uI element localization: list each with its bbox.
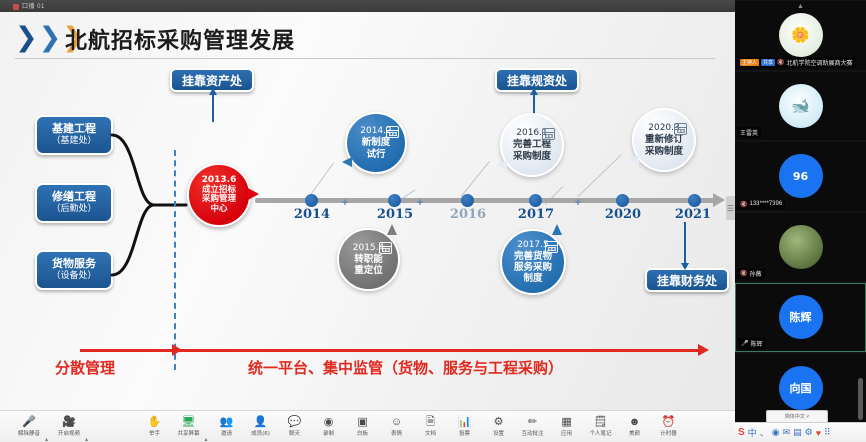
participant-name: 133****7396: [749, 201, 782, 207]
avatar-initials: 向国: [790, 380, 812, 396]
milestone-line2: 重定位: [354, 265, 383, 276]
toolbar-members-button[interactable]: 👤 成员(6): [246, 411, 276, 442]
share-badge: 共享: [761, 59, 775, 66]
milestone-line1: 转职能: [354, 254, 383, 265]
milestone-line1: 新制度: [362, 137, 391, 148]
share-screen-icon: 🖥: [182, 416, 196, 428]
share-control-pair[interactable]: 🖥 共享屏幕 ▴: [174, 411, 208, 442]
leader-line-2016: [461, 161, 490, 197]
toolbar-label: 美颜: [629, 429, 640, 437]
dept-line1: 基建工程: [37, 123, 111, 136]
milestone-bubble-2017: 2017.5 完善货物 服务采购 制度: [500, 229, 566, 295]
avatar-initials: 96: [793, 170, 808, 183]
ime-settings-icon[interactable]: ⚙: [805, 427, 813, 438]
timeline-arrowhead: [713, 193, 725, 207]
mic-control-pair[interactable]: 🎤 解除静音 ▴: [14, 411, 48, 442]
video-tile[interactable]: 🐋 王雷英: [735, 72, 866, 141]
management-era-arrow-mid: [172, 344, 182, 356]
calendar-icon: [386, 126, 399, 138]
dept-line2: （设备处）: [37, 271, 111, 282]
toolbar-label: 共享屏幕: [177, 429, 199, 437]
milestone-line1: 完善工程: [513, 139, 551, 150]
timeline-separator-2: +: [417, 197, 423, 209]
toolbar-beauty-button[interactable]: ☻ 美颜: [620, 411, 650, 442]
toolbar-label: 表情: [391, 429, 402, 437]
timeline-node-2014: [305, 194, 318, 207]
center-milestone-node: 2013.6 成立招标 采购管理 中心: [187, 163, 251, 227]
chevron-up-icon[interactable]: ▲: [797, 3, 804, 10]
toolbar-label: 邀请: [221, 429, 232, 437]
annotation-pen-icon: ✏: [528, 416, 537, 428]
participant-name: 陈辉: [750, 339, 762, 348]
toolbar-annotation-button[interactable]: ✏ 互动批注: [518, 411, 548, 442]
bubble-tail-2020: [629, 155, 639, 165]
emoji-icon: ☺: [391, 416, 402, 428]
dept-box-goods: 货物服务 （设备处）: [35, 250, 113, 290]
toolbar-label: 个人笔记: [590, 429, 612, 437]
timeline-year-2020: 2020: [605, 207, 641, 222]
ime-mail-icon[interactable]: ✉: [783, 427, 791, 438]
toolbar-center-group: ✋ 举手 🖥 共享屏幕 ▴ 👥 邀请 👤 成员(6) 💬 聊天: [140, 411, 684, 442]
milestone-bubble-2020: 2020.3 重新修订 采购制度: [632, 108, 696, 172]
timeline-node-2021: [688, 194, 701, 207]
toolbar-label: 录制: [323, 429, 334, 437]
toolbar-label: 计时器: [660, 429, 677, 437]
center-line3: 中心: [210, 205, 227, 215]
toolbar-emoji-button[interactable]: ☺ 表情: [382, 411, 412, 442]
brace-connector: [110, 110, 192, 300]
mic-muted-icon: 🔇: [740, 201, 747, 208]
video-tile[interactable]: 🔇 孙薇: [735, 213, 866, 282]
calendar-icon: [545, 241, 558, 253]
timeline-year-2014: 2014: [294, 207, 330, 222]
members-icon: 👤: [254, 416, 268, 428]
bubble-tail-2015: [387, 224, 397, 235]
chevron-up-icon[interactable]: ▴: [85, 436, 88, 442]
participant-name-chip: 主持人 共享 🔇 北航学院空调助展商大赛: [737, 57, 856, 68]
window-tab-label: 口播 01: [22, 1, 45, 10]
timeline-node-2015: [388, 194, 401, 207]
mic-icon: 🎤: [741, 340, 748, 347]
app-root: 口播 01 ❯ ❯ ❯ 北航招标采购管理发展 基建工程 （基建处） 修缮工程 （…: [0, 0, 866, 442]
raise-hand-icon: ✋: [148, 416, 162, 428]
bubble-tail-2016: [497, 160, 507, 170]
milestone-line1: 重新修订: [645, 134, 683, 145]
video-tile-active-speaker[interactable]: 陈辉 🎤 陈辉: [735, 283, 866, 352]
toolbar-label: 应用: [561, 429, 572, 437]
gear-icon: ⚙: [494, 416, 504, 428]
ime-keyboard-icon[interactable]: ▤: [793, 427, 802, 438]
ime-favorite-icon[interactable]: ♥: [816, 428, 821, 438]
toolbar-settings-button[interactable]: ⚙ 设置: [484, 411, 514, 442]
sogou-logo-icon[interactable]: S: [738, 427, 745, 438]
avatar-initials: 陈辉: [790, 309, 812, 325]
toolbar-label: 白板: [357, 429, 368, 437]
participant-video-rail[interactable]: ▲ 🌼 主持人 共享 🔇 北航学院空调助展商大赛 🐋 王雷英 96: [735, 0, 866, 422]
toolbar-label: 成员(6): [251, 429, 270, 437]
timeline-separator-3: +: [575, 197, 581, 209]
milestone-bubble-2015: 2015.4 转职能 重定位: [337, 228, 400, 291]
vote-chart-icon: 📊: [458, 416, 472, 428]
toolbar-document-button[interactable]: 🗎 文档: [416, 411, 446, 442]
timeline-separator-1: +: [342, 197, 348, 209]
milestone-line2: 采购制度: [645, 146, 683, 157]
avatar: 🌼: [779, 13, 823, 57]
milestone-line2: 服务采购: [514, 262, 552, 273]
timeline-node-2020: [616, 194, 629, 207]
toolbar-notes-button[interactable]: 🗒 个人笔记: [586, 411, 616, 442]
toolbar-raise-hand-button[interactable]: ✋ 举手: [140, 411, 170, 442]
toolbar-left-group: 🎤 解除静音 ▴ 🎥 开启视频 ▴: [14, 411, 88, 442]
ime-punctuation-icon[interactable]: 、: [760, 426, 769, 439]
video-tile[interactable]: ▲ 🌼 主持人 共享 🔇 北航学院空调助展商大赛: [735, 1, 866, 70]
whiteboard-icon: ▣: [357, 416, 367, 428]
timer-icon: ⏰: [662, 416, 676, 428]
participant-name: 王雷英: [740, 128, 758, 137]
mic-muted-icon: 🔇: [740, 270, 747, 277]
era-divider-dashed: [174, 150, 176, 370]
scrollbar-thumb[interactable]: [858, 378, 863, 420]
participant-name: 孙薇: [749, 269, 761, 278]
notes-icon: 🗒: [594, 416, 608, 428]
leader-line-2020: [578, 154, 622, 196]
toolbar-label: 设置: [493, 429, 504, 437]
toolbar-share-screen-button[interactable]: 🖥 共享屏幕: [174, 411, 204, 442]
era-label-decentralized: 分散管理: [55, 357, 115, 378]
ime-menu-icon[interactable]: ⠿: [824, 427, 831, 438]
participant-name-chip: 王雷英: [737, 127, 761, 138]
toolbar-label: 互动批注: [522, 429, 544, 437]
mic-muted-icon: 🔇: [777, 59, 784, 66]
avatar: 向国: [779, 366, 823, 410]
era-label-unified: 统一平台、集中监管（货物、服务与工程采购）: [248, 357, 563, 378]
video-tile[interactable]: 96 🔇 133****7396: [735, 142, 866, 211]
toolbar-vote-button[interactable]: 📊 投票: [450, 411, 480, 442]
toolbar-whiteboard-button[interactable]: ▣ 白板: [348, 411, 378, 442]
toolbar-unmute-button[interactable]: 🎤 解除静音: [14, 411, 44, 442]
calendar-icon: [674, 123, 687, 135]
record-icon: ◉: [324, 416, 334, 428]
bubble-tail-2014: [342, 157, 352, 167]
toolbar-label: 文档: [425, 429, 436, 437]
calendar-icon: [542, 128, 555, 140]
milestone-bubble-2016: 2016.1 完善工程 采购制度: [500, 113, 564, 177]
ime-toolbar[interactable]: S 中 、 ◉ ✉ ▤ ⚙ ♥ ⠿: [735, 422, 866, 442]
chat-icon: 💬: [288, 416, 302, 428]
app-icon: [13, 4, 19, 10]
tag-finance-office: 挂靠财务处: [645, 268, 729, 292]
timeline-year-2021: 2021: [675, 207, 711, 222]
title-divider: [15, 58, 715, 59]
timeline-year-2017: 2017: [518, 207, 554, 222]
chevron-up-icon[interactable]: ▴: [205, 436, 208, 442]
chevron-up-icon[interactable]: ▴: [45, 436, 48, 442]
management-era-arrow-end: [698, 344, 709, 356]
avatar: 🐋: [779, 84, 823, 128]
toolbar-start-video-button[interactable]: 🎥 开启视频: [54, 411, 84, 442]
dept-box-infrastructure: 基建工程 （基建处）: [35, 115, 113, 155]
toolbar-chat-button[interactable]: 💬 聊天: [280, 411, 310, 442]
toolbar-label: 聊天: [289, 429, 300, 437]
milestone-bubble-2014: 2014.2 新制度 试行: [345, 112, 407, 174]
presentation-slide: 口播 01 ❯ ❯ ❯ 北航招标采购管理发展 基建工程 （基建处） 修缮工程 （…: [0, 0, 735, 410]
document-icon: 🗎: [426, 416, 435, 428]
beauty-face-icon: ☻: [629, 416, 641, 428]
avatar: [779, 225, 823, 269]
leader-line-2014: [310, 163, 334, 196]
video-off-icon: 🎥: [62, 416, 76, 428]
shared-window-titlebar: [0, 0, 735, 12]
participant-name: 北航学院空调助展商大赛: [787, 58, 853, 67]
microphone-muted-icon: 🎤: [22, 416, 36, 428]
milestone-line2: 采购制度: [513, 151, 551, 162]
dept-box-renovation: 修缮工程 （后勤处）: [35, 183, 113, 223]
avatar: 陈辉: [779, 295, 823, 339]
participant-name-chip: 🔇 133****7396: [737, 200, 785, 209]
participant-name-chip: 🎤 陈辉: [738, 338, 766, 349]
host-badge: 主持人: [740, 59, 759, 66]
ime-mode-icon[interactable]: 中: [748, 426, 757, 439]
apps-grid-icon: ▦: [561, 416, 571, 428]
toolbar-label: 解除静音: [18, 429, 40, 437]
toolbar-invite-button[interactable]: 👥 邀请: [212, 411, 242, 442]
timeline-node-2017: [529, 194, 542, 207]
invite-icon: 👥: [220, 416, 234, 428]
timeline-node-2016: [461, 194, 474, 207]
timeline-axis: [255, 198, 715, 203]
ime-voice-icon[interactable]: ◉: [772, 427, 780, 438]
participant-name-chip: 🔇 孙薇: [737, 268, 765, 279]
toolbar-record-button[interactable]: ◉ 录制: [314, 411, 344, 442]
dept-line2: （后勤处）: [37, 204, 111, 215]
toolbar-label: 投票: [459, 429, 470, 437]
dept-line1: 修缮工程: [37, 191, 111, 204]
avatar: 96: [779, 154, 823, 198]
tag-finance-arrow: [684, 222, 686, 264]
timeline-year-2015: 2015: [377, 207, 413, 222]
tag-asset-arrow: [212, 94, 214, 122]
timeline-year-2016: 2016: [450, 207, 486, 222]
milestone-line3: 制度: [523, 273, 542, 284]
video-control-pair[interactable]: 🎥 开启视频 ▴: [54, 411, 88, 442]
slide-side-handle[interactable]: ☰: [726, 196, 735, 220]
dept-line2: （基建处）: [37, 136, 111, 147]
page-title: 北航招标采购管理发展: [65, 23, 295, 55]
meeting-toolbar[interactable]: 🎤 解除静音 ▴ 🎥 开启视频 ▴ ✋ 举手 🖥 共: [0, 410, 735, 442]
toolbar-label: 开启视频: [58, 429, 80, 437]
toolbar-apps-button[interactable]: ▦ 应用: [552, 411, 582, 442]
calendar-icon: [379, 242, 392, 254]
toolbar-timer-button[interactable]: ⏰ 计时器: [654, 411, 684, 442]
milestone-line2: 试行: [366, 149, 385, 160]
toolbar-label: 举手: [149, 429, 160, 437]
bubble-tail-2017: [552, 224, 562, 235]
dept-line1: 货物服务: [37, 258, 111, 271]
